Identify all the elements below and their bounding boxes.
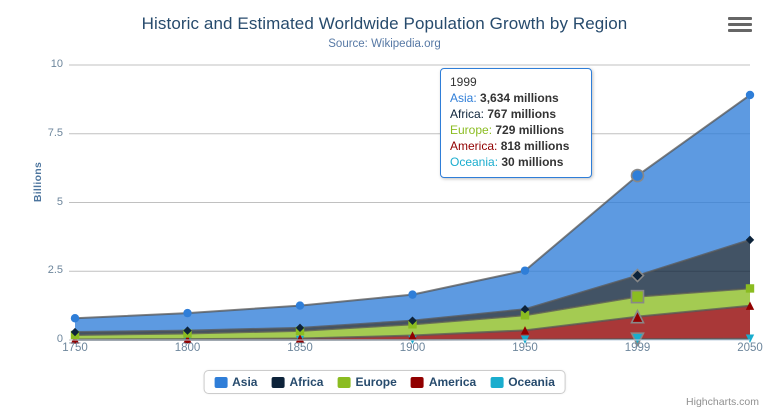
tooltip-row-america: America: 818 millions: [450, 138, 582, 154]
marker-asia: [746, 91, 754, 99]
highcharts-container: Historic and Estimated Worldwide Populat…: [0, 0, 769, 416]
legend-item-asia[interactable]: Asia: [214, 375, 257, 389]
marker-asia: [183, 309, 191, 317]
x-axis-label: 1750: [45, 342, 105, 354]
tooltip-series-value: 3,634 millions: [480, 91, 559, 105]
tooltip-series-value: 767 millions: [487, 107, 556, 121]
legend-label-africa: Africa: [289, 375, 323, 389]
tooltip-row-africa: Africa: 767 millions: [450, 106, 582, 122]
tooltip-series-value: 30 millions: [501, 155, 563, 169]
tooltip-header: 1999: [450, 75, 582, 89]
legend-item-africa[interactable]: Africa: [271, 375, 323, 389]
x-axis-label: 1850: [270, 342, 330, 354]
tooltip-series-value: 729 millions: [495, 123, 564, 137]
tooltip-series-name: Africa:: [450, 107, 487, 121]
tooltip-row-asia: Asia: 3,634 millions: [450, 90, 582, 106]
tooltip-series-value: 818 millions: [501, 139, 570, 153]
legend-swatch-africa: [271, 377, 284, 388]
legend-swatch-europe: [337, 377, 350, 388]
legend-label-asia: Asia: [232, 375, 257, 389]
y-axis-label: 10: [19, 58, 63, 70]
legend-swatch-oceania: [490, 377, 503, 388]
tooltip-series-name: Asia:: [450, 91, 480, 105]
marker-asia: [632, 170, 644, 182]
legend-label-oceania: Oceania: [508, 375, 555, 389]
tooltip-series-name: Europe:: [450, 123, 495, 137]
y-axis-label: 7.5: [19, 127, 63, 139]
marker-asia: [408, 290, 416, 298]
marker-asia: [296, 301, 304, 309]
tooltip-row-oceania: Oceania: 30 millions: [450, 154, 582, 170]
credits-link[interactable]: Highcharts.com: [686, 396, 759, 408]
x-axis-label: 1950: [495, 342, 555, 354]
tooltip-series-name: America:: [450, 139, 501, 153]
tooltip-rows: Asia: 3,634 millionsAfrica: 767 millions…: [450, 90, 582, 170]
legend-label-america: America: [429, 375, 476, 389]
legend-label-europe: Europe: [355, 375, 396, 389]
chart-legend[interactable]: Asia Africa Europe America Oceania: [203, 370, 566, 394]
y-axis-label: 2.5: [19, 264, 63, 276]
tooltip-series-name: Oceania:: [450, 155, 501, 169]
marker-europe: [632, 291, 644, 303]
legend-swatch-america: [411, 377, 424, 388]
x-axis-label: 2050: [720, 342, 769, 354]
marker-asia: [71, 314, 79, 322]
x-axis-label: 1900: [383, 342, 443, 354]
legend-swatch-asia: [214, 377, 227, 388]
x-axis-label: 1800: [158, 342, 218, 354]
marker-europe: [746, 284, 754, 292]
legend-item-oceania[interactable]: Oceania: [490, 375, 555, 389]
tooltip: 1999 Asia: 3,634 millionsAfrica: 767 mil…: [440, 68, 592, 178]
legend-item-america[interactable]: America: [411, 375, 476, 389]
marker-asia: [521, 266, 529, 274]
legend-item-europe[interactable]: Europe: [337, 375, 396, 389]
x-axis-label: 1999: [608, 342, 668, 354]
y-axis-label: 5: [19, 196, 63, 208]
tooltip-row-europe: Europe: 729 millions: [450, 122, 582, 138]
